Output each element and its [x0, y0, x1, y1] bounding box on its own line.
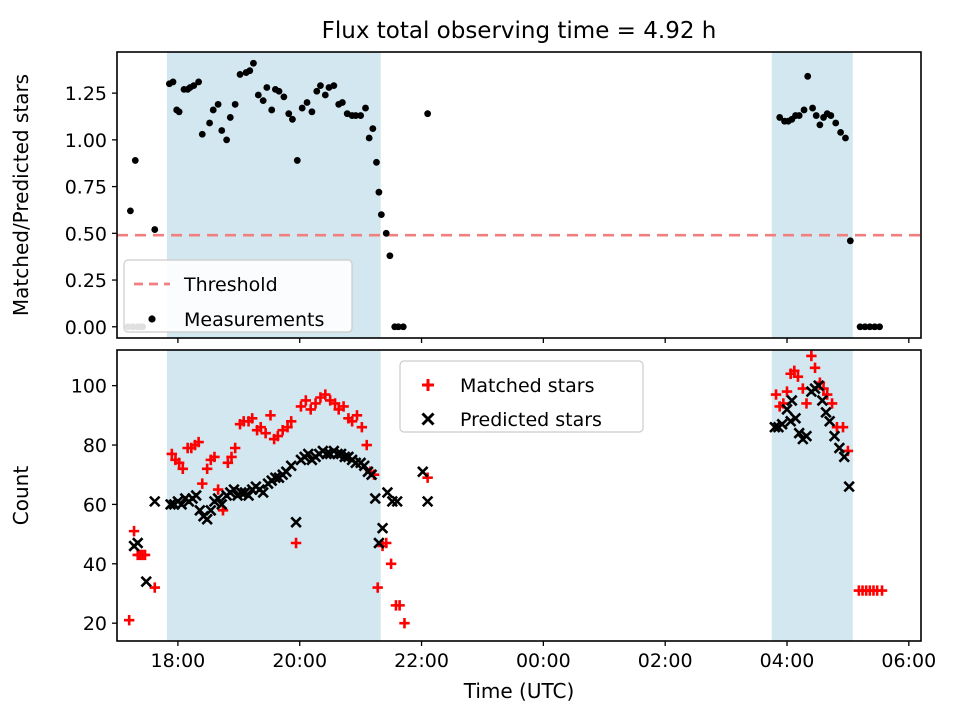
data-point	[313, 88, 320, 95]
data-point	[268, 107, 275, 114]
data-point	[322, 92, 329, 99]
data-point	[816, 122, 823, 129]
data-point	[827, 112, 834, 119]
data-point	[215, 101, 222, 108]
data-point	[232, 101, 239, 108]
data-point	[809, 105, 816, 112]
data-point	[847, 237, 854, 244]
data-point	[210, 107, 217, 114]
x-axis-title: Time (UTC)	[463, 679, 575, 703]
x-tick-label: 00:00	[516, 650, 571, 672]
data-point	[796, 112, 803, 119]
data-point	[263, 84, 270, 91]
y-tick-label: 1.25	[65, 83, 107, 105]
data-point	[127, 207, 134, 214]
data-point	[804, 73, 811, 80]
data-point	[801, 107, 808, 114]
data-point	[285, 110, 292, 117]
data-point	[400, 323, 407, 330]
top-panel-axes: 0.000.250.500.751.001.25Matched/Predicte…	[9, 52, 921, 343]
data-point	[373, 159, 380, 166]
data-point	[124, 615, 134, 625]
data-point	[304, 99, 311, 106]
data-point	[369, 125, 376, 132]
data-point	[424, 110, 431, 117]
legend: ThresholdMeasurements	[124, 260, 352, 332]
data-point	[280, 93, 287, 100]
data-point	[255, 92, 262, 99]
data-point	[357, 112, 364, 119]
x-tick-label: 18:00	[151, 650, 206, 672]
data-point	[309, 108, 316, 115]
x-tick-label: 02:00	[638, 650, 693, 672]
data-point	[837, 129, 844, 136]
y-tick-label: 0.00	[65, 317, 107, 339]
data-point	[129, 526, 139, 536]
data-point	[223, 136, 230, 143]
legend-label: Threshold	[183, 274, 278, 296]
x-tick-label: 06:00	[881, 650, 936, 672]
data-point	[423, 497, 433, 507]
bottom-panel-axes: 18:0020:0022:0000:0002:0004:0006:0020406…	[9, 350, 936, 703]
data-point	[366, 135, 373, 142]
data-point	[151, 226, 158, 233]
data-point	[842, 135, 849, 142]
data-point	[330, 82, 337, 89]
data-point	[176, 108, 183, 115]
y-axis-title: Matched/Predicted stars	[9, 74, 33, 316]
data-point	[299, 105, 306, 112]
data-point	[227, 114, 234, 121]
y-tick-label: 20	[83, 613, 107, 635]
data-point	[289, 116, 296, 123]
data-point	[813, 112, 820, 119]
legend: Matched starsPredicted stars	[400, 361, 643, 432]
data-point	[386, 559, 396, 569]
observation-band-1	[167, 350, 381, 641]
y-tick-label: 0.75	[65, 177, 107, 199]
data-point	[276, 88, 283, 95]
y-tick-label: 0.50	[65, 223, 107, 245]
data-point	[383, 230, 390, 237]
y-tick-label: 40	[83, 554, 107, 576]
legend-label: Predicted stars	[460, 409, 602, 431]
figure-canvas: Flux total observing time = 4.92 h 0.000…	[0, 0, 960, 720]
data-point	[206, 120, 213, 127]
legend-circle-icon	[148, 315, 155, 322]
data-point	[150, 497, 160, 507]
y-tick-label: 1.00	[65, 130, 107, 152]
y-tick-label: 100	[71, 376, 107, 398]
data-point	[150, 582, 160, 592]
data-point	[237, 71, 244, 78]
data-point	[246, 67, 253, 74]
data-point	[250, 60, 257, 67]
data-point	[339, 99, 346, 106]
x-tick-label: 22:00	[394, 650, 449, 672]
legend-label: Matched stars	[460, 375, 594, 397]
data-point	[132, 157, 139, 164]
data-point	[378, 211, 385, 218]
data-point	[133, 538, 143, 548]
data-point	[418, 467, 428, 477]
x-tick-label: 20:00	[272, 650, 327, 672]
data-point	[141, 577, 151, 587]
data-point	[876, 323, 883, 330]
y-axis-title: Count	[9, 466, 33, 526]
data-point	[195, 79, 202, 86]
legend-label: Measurements	[184, 309, 324, 331]
data-point	[376, 189, 383, 196]
page-title: Flux total observing time = 4.92 h	[322, 18, 717, 44]
matplotlib-figure: Flux total observing time = 4.92 h 0.000…	[0, 0, 960, 720]
data-point	[294, 157, 301, 164]
data-point	[386, 252, 393, 259]
y-tick-label: 60	[83, 494, 107, 516]
data-point	[199, 131, 206, 138]
y-tick-label: 80	[83, 435, 107, 457]
observation-band-2	[772, 52, 853, 338]
y-tick-label: 0.25	[65, 270, 107, 292]
data-point	[317, 82, 324, 89]
data-point	[218, 127, 225, 134]
data-point	[383, 488, 393, 498]
data-point	[832, 120, 839, 127]
x-tick-label: 04:00	[760, 650, 815, 672]
data-point	[260, 97, 267, 104]
data-point	[362, 105, 369, 112]
data-point	[399, 618, 409, 628]
data-point	[170, 79, 177, 86]
